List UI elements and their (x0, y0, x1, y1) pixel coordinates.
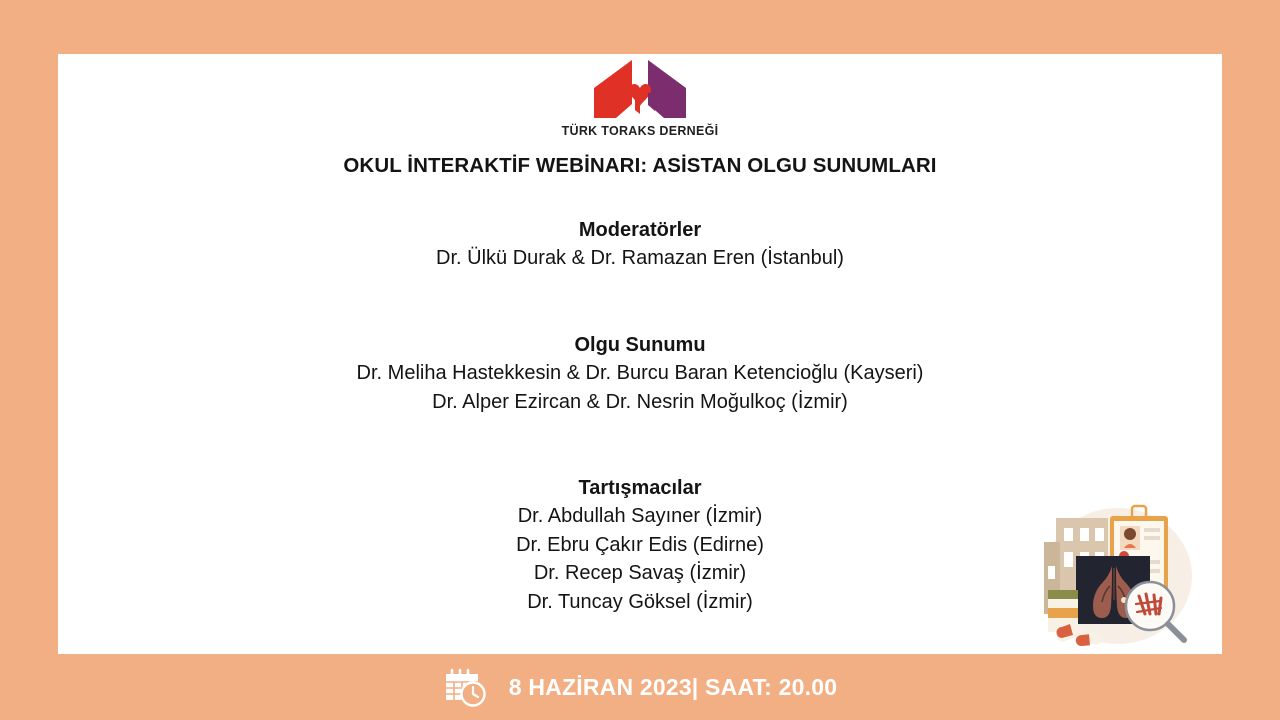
section-heading: Olgu Sunumu (58, 331, 1222, 359)
medical-diagnosis-illustration (1032, 490, 1200, 650)
calendar-clock-icon (443, 666, 489, 708)
lungs-heart-logo-icon (588, 58, 692, 120)
section-moderators: Moderatörler Dr. Ülkü Durak & Dr. Ramaza… (58, 216, 1222, 273)
section-heading: Moderatörler (58, 216, 1222, 244)
section-line: Dr. Ülkü Durak & Dr. Ramazan Eren (İstan… (58, 244, 1222, 272)
slide-card: TÜRK TORAKS DERNEĞİ OKUL İNTERAKTİF WEBİ… (58, 54, 1222, 654)
event-datetime: 8 HAZİRAN 2023| SAAT: 20.00 (509, 674, 837, 701)
logo-wordmark: TÜRK TORAKS DERNEĞİ (562, 124, 719, 138)
page-title: OKUL İNTERAKTİF WEBİNARI: ASİSTAN OLGU S… (58, 154, 1222, 178)
footer-date-bar: 8 HAZİRAN 2023| SAAT: 20.00 (0, 654, 1280, 720)
section-line: Dr. Meliha Hastekkesin & Dr. Burcu Baran… (58, 359, 1222, 387)
section-line: Dr. Alper Ezircan & Dr. Nesrin Moğulkoç … (58, 388, 1222, 416)
section-case-presentation: Olgu Sunumu Dr. Meliha Hastekkesin & Dr.… (58, 331, 1222, 416)
organization-logo: TÜRK TORAKS DERNEĞİ (58, 58, 1222, 138)
